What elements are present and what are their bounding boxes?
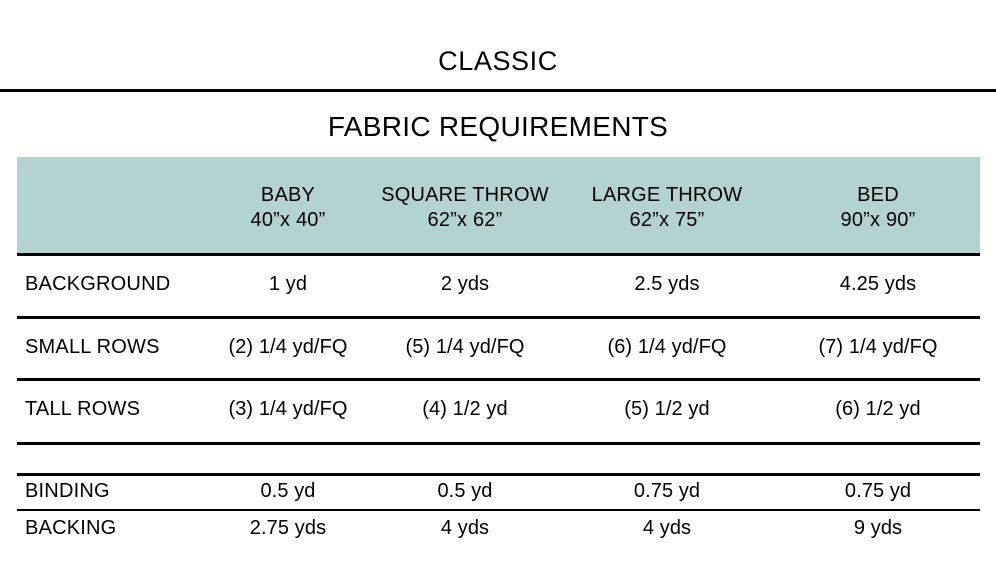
column-header-large-throw: LARGE THROW 62”x 75” xyxy=(576,183,758,233)
fabric-requirements-page: CLASSIC FABRIC REQUIREMENTS BABY 40”x 40… xyxy=(0,0,996,568)
column-header-dimensions: 90”x 90” xyxy=(787,208,969,233)
table-cell: (4) 1/2 yd xyxy=(374,398,556,421)
column-header-name: LARGE THROW xyxy=(576,183,758,208)
column-header-dimensions: 62”x 62” xyxy=(374,208,556,233)
column-header-name: BED xyxy=(787,183,969,208)
table-spacer-band xyxy=(17,445,980,473)
table-cell: (7) 1/4 yd/FQ xyxy=(787,336,969,359)
table-row-binding: BINDING 0.5 yd 0.5 yd 0.75 yd 0.75 yd xyxy=(17,473,980,509)
table-cell: 0.75 yd xyxy=(787,480,969,503)
table-cell: 4 yds xyxy=(374,517,556,540)
table-cell: 1 yd xyxy=(197,273,379,296)
table-cell: (5) 1/2 yd xyxy=(576,398,758,421)
table-cell: 4 yds xyxy=(576,517,758,540)
title-divider xyxy=(0,89,996,92)
column-header-baby: BABY 40”x 40” xyxy=(197,183,379,233)
table-cell: 0.75 yd xyxy=(576,480,758,503)
table-row-small-rows: SMALL ROWS (2) 1/4 yd/FQ (5) 1/4 yd/FQ (… xyxy=(17,316,980,378)
row-label: SMALL ROWS xyxy=(25,336,160,359)
section-title: FABRIC REQUIREMENTS xyxy=(0,110,996,144)
table-row-background: BACKGROUND 1 yd 2 yds 2.5 yds 4.25 yds xyxy=(17,253,980,316)
table-cell: (6) 1/2 yd xyxy=(787,398,969,421)
table-cell: (3) 1/4 yd/FQ xyxy=(197,398,379,421)
row-label: TALL ROWS xyxy=(25,398,140,421)
page-title: CLASSIC xyxy=(0,45,996,77)
row-label: BINDING xyxy=(25,480,110,503)
row-label: BACKING xyxy=(25,517,116,540)
table-row-backing: BACKING 2.75 yds 4 yds 4 yds 9 yds xyxy=(17,510,980,546)
fabric-requirements-table: BABY 40”x 40” SQUARE THROW 62”x 62” LARG… xyxy=(17,157,980,537)
table-cell: (2) 1/4 yd/FQ xyxy=(197,336,379,359)
table-cell: 2.5 yds xyxy=(576,273,758,296)
column-header-dimensions: 40”x 40” xyxy=(197,208,379,233)
table-cell: 0.5 yd xyxy=(374,480,556,503)
column-header-bed: BED 90”x 90” xyxy=(787,183,969,233)
table-cell: (6) 1/4 yd/FQ xyxy=(576,336,758,359)
column-header-name: BABY xyxy=(197,183,379,208)
table-cell: (5) 1/4 yd/FQ xyxy=(374,336,556,359)
column-header-dimensions: 62”x 75” xyxy=(576,208,758,233)
row-label: BACKGROUND xyxy=(25,273,170,296)
column-header-square-throw: SQUARE THROW 62”x 62” xyxy=(374,183,556,233)
table-row-tall-rows: TALL ROWS (3) 1/4 yd/FQ (4) 1/2 yd (5) 1… xyxy=(17,378,980,442)
table-cell: 9 yds xyxy=(787,517,969,540)
table-cell: 4.25 yds xyxy=(787,273,969,296)
column-header-name: SQUARE THROW xyxy=(374,183,556,208)
table-cell: 2 yds xyxy=(374,273,556,296)
table-cell: 0.5 yd xyxy=(197,480,379,503)
table-cell: 2.75 yds xyxy=(197,517,379,540)
